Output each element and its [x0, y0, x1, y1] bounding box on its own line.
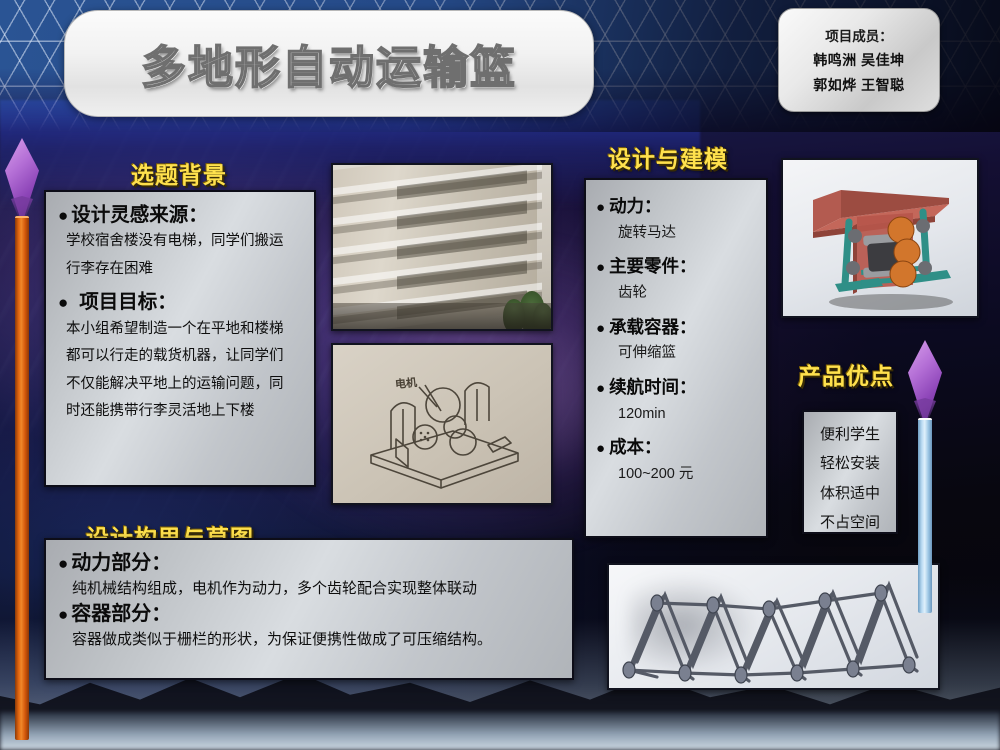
- spec-row: ● 承载容器： 可伸缩篮: [596, 317, 754, 363]
- bullet-dot-icon: ●: [596, 320, 605, 339]
- sketch-photo: 电机: [331, 343, 553, 505]
- pillar-shaft: [918, 418, 932, 613]
- spec-key-endurance: ● 续航时间：: [596, 377, 754, 399]
- cad-model-image: [781, 158, 979, 318]
- spec-key-cost-label: 成本：: [609, 437, 662, 459]
- dormitory-photo: [331, 163, 553, 331]
- team-members-row-1: 韩鸣洲 吴佳坤: [813, 50, 904, 70]
- spec-value-parts: 齿轮: [596, 285, 754, 302]
- section-heading-advantages: 产品优点: [798, 357, 894, 391]
- advantage-item-4: 不占空间: [808, 508, 892, 537]
- panel-advantages: 便利学生 轻松安装 体积适中 不占空间: [802, 410, 898, 534]
- spec-key-endurance-label: 续航时间：: [609, 377, 697, 399]
- bullet-goal-label: 项目目标：: [71, 289, 177, 315]
- spec-row: ● 续航时间： 120min: [596, 377, 754, 423]
- bullet-dot-icon: ●: [596, 440, 605, 459]
- team-members-title: 项目成员：: [825, 25, 893, 45]
- panel-design-specs: ● 动力： 旋转马达 ● 主要零件： 齿轮 ● 承载容器： 可伸缩篮: [584, 178, 768, 538]
- bullet-inspiration-label: 设计灵感来源：: [71, 202, 208, 228]
- spec-key-power-label: 动力：: [609, 196, 662, 218]
- section-heading-background: 选题背景: [131, 156, 227, 190]
- section-heading-design: 设计与建模: [608, 140, 728, 174]
- sketch-label-motor: 电机: [394, 374, 418, 392]
- advantage-item-2: 轻松安装: [808, 449, 892, 478]
- bullet-dot-icon: ●: [596, 259, 605, 278]
- spec-value-container: 可伸缩篮: [596, 345, 754, 362]
- bullet-inspiration: ● 设计灵感来源：: [58, 202, 302, 228]
- bullet-container-part: ● 容器部分：: [58, 601, 560, 628]
- spec-row: ● 动力： 旋转马达: [596, 196, 754, 242]
- inspiration-line-1: 学校宿舍楼没有电梯，同学们搬运: [58, 228, 302, 256]
- scissor-mechanism-image: [607, 563, 940, 690]
- left-decorative-pillar: [5, 138, 39, 748]
- team-members-row-2: 郭如烨 王智聪: [813, 75, 904, 95]
- bullet-dot-icon: ●: [596, 380, 605, 399]
- inspiration-line-2: 行李存在困难: [58, 256, 302, 284]
- goal-line-4: 时还能携带行李灵活地上下楼: [58, 398, 302, 426]
- panel-background: ● 设计灵感来源： 学校宿舍楼没有电梯，同学们搬运 行李存在困难 ● 项目目标：…: [44, 190, 316, 487]
- spec-key-container-label: 承载容器：: [609, 317, 697, 339]
- spec-key-parts-label: 主要零件：: [609, 256, 697, 278]
- background-ice-strip: [0, 712, 1000, 750]
- spec-row: ● 成本： 100~200 元: [596, 437, 754, 483]
- team-members-box: 项目成员： 韩鸣洲 吴佳坤 郭如烨 王智聪: [778, 8, 940, 112]
- bullet-power-part: ● 动力部分：: [58, 550, 560, 577]
- bullet-power-part-label: 动力部分：: [71, 550, 171, 577]
- spec-row: ● 主要零件： 齿轮: [596, 256, 754, 302]
- spec-key-parts: ● 主要零件：: [596, 256, 754, 278]
- poster-canvas: 多地形自动运输篮 项目成员： 韩鸣洲 吴佳坤 郭如烨 王智聪 选题背景 设计构思…: [0, 0, 1000, 750]
- spec-value-cost: 100~200 元: [596, 466, 754, 483]
- pillar-shaft: [15, 216, 29, 740]
- spec-value-endurance: 120min: [596, 406, 754, 423]
- power-part-text: 纯机械结构组成，电机作为动力，多个齿轮配合实现整体联动: [58, 577, 560, 601]
- spec-key-power: ● 动力：: [596, 196, 754, 218]
- spec-value-power: 旋转马达: [596, 225, 754, 242]
- goal-line-2: 都可以行走的载货机器，让同学们: [58, 343, 302, 371]
- cad-gear-platform-icon: [783, 160, 979, 318]
- container-part-text: 容器做成类似于栅栏的形状，为保证便携性做成了可压缩结构。: [58, 628, 560, 652]
- poster-title: 多地形自动运输篮: [141, 31, 517, 96]
- spec-key-cost: ● 成本：: [596, 437, 754, 459]
- bullet-dot-icon: ●: [58, 294, 68, 311]
- panel-sketch: ● 动力部分： 纯机械结构组成，电机作为动力，多个齿轮配合实现整体联动 ● 容器…: [44, 538, 574, 680]
- right-decorative-pillar: [908, 340, 942, 670]
- bullet-dot-icon: ●: [58, 207, 68, 224]
- bullet-container-part-label: 容器部分：: [71, 601, 171, 628]
- bullet-dot-icon: ●: [58, 555, 68, 572]
- advantage-item-3: 体积适中: [808, 479, 892, 508]
- goal-line-1: 本小组希望制造一个在平地和楼梯: [58, 316, 302, 344]
- advantage-item-1: 便利学生: [808, 420, 892, 449]
- spec-key-container: ● 承载容器：: [596, 317, 754, 339]
- bullet-dot-icon: ●: [596, 199, 605, 218]
- sketch-drawing-icon: [333, 345, 553, 505]
- goal-line-3: 不仅能解决平地上的运输问题，同: [58, 371, 302, 399]
- bullet-goal: ● 项目目标：: [58, 289, 302, 315]
- bullet-dot-icon: ●: [58, 606, 68, 623]
- scissor-linkage-icon: [609, 565, 940, 690]
- poster-title-banner: 多地形自动运输篮: [64, 10, 594, 117]
